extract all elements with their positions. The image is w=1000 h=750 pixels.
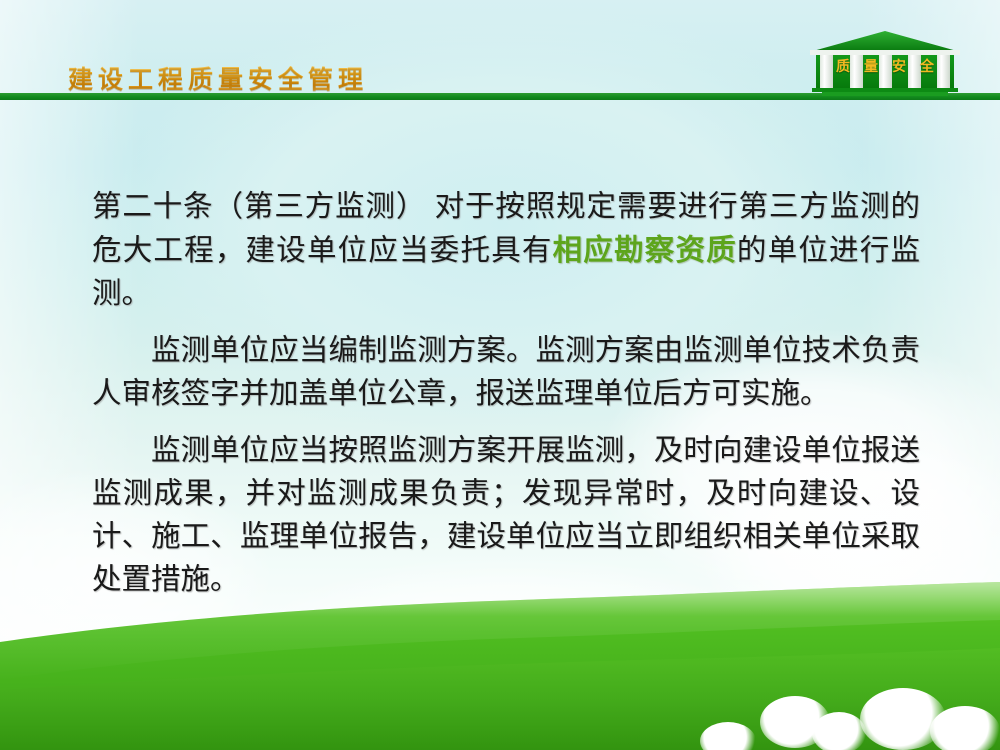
page-title: 建设工程质量安全管理 xyxy=(68,60,368,96)
paragraph-monitoring-plan: 监测单位应当编制监测方案。监测方案由监测单位技术负责人审核签字并加盖单位公章，报… xyxy=(92,330,920,416)
grass-field-decoration xyxy=(0,580,1000,750)
paragraph-article-20: 第二十条（第三方监测） 对于按照规定需要进行第三方监测的危大工程，建设单位应当委… xyxy=(92,186,920,316)
paragraph-monitoring-execution: 监测单位应当按照监测方案开展监测，及时向建设单位报送监测成果，并对监测成果负责；… xyxy=(92,430,920,602)
quality-safety-temple-logo: 质量安全 xyxy=(806,30,964,98)
cloud-shape xyxy=(812,712,866,750)
presentation-slide: 建设工程质量安全管理 xyxy=(0,0,1000,750)
text-run: 监测单位应当编制监测方案。监测方案由监测单位技术负责人审核签字并加盖单位公章，报… xyxy=(92,335,920,410)
slide-body: 第二十条（第三方监测） 对于按照规定需要进行第三方监测的危大工程，建设单位应当委… xyxy=(92,186,920,602)
cloud-shape xyxy=(930,706,1000,750)
highlighted-text-run: 相应勘察资质 xyxy=(553,233,737,267)
text-run: 监测单位应当按照监测方案开展监测，及时向建设单位报送监测成果，并对监测成果负责；… xyxy=(92,435,920,596)
